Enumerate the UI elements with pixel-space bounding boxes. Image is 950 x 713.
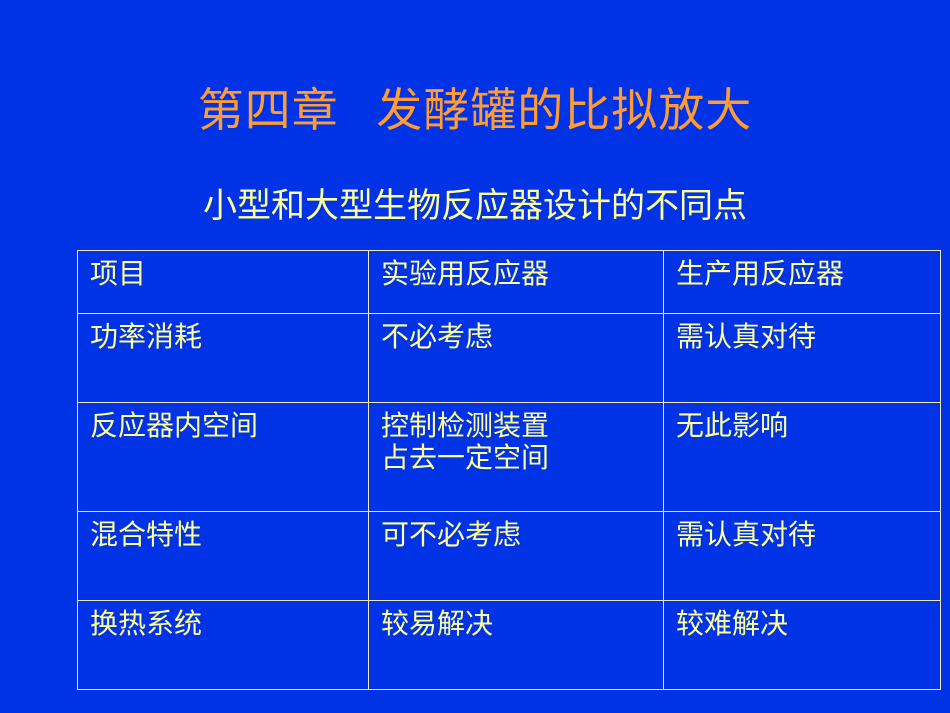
table-cell: 功率消耗 [78, 314, 369, 403]
table-row: 功率消耗 不必考虑 需认真对待 [78, 314, 941, 403]
table-cell: 反应器内空间 [78, 403, 369, 512]
table-cell: 可不必考虑 [369, 512, 664, 601]
table-header-row: 项目 实验用反应器 生产用反应器 [78, 251, 941, 314]
slide-subtitle: 小型和大型生物反应器设计的不同点 [0, 188, 950, 225]
table-cell: 不必考虑 [369, 314, 664, 403]
table-row: 反应器内空间 控制检测装置 占去一定空间 无此影响 [78, 403, 941, 512]
slide-canvas: 第四章 发酵罐的比拟放大 小型和大型生物反应器设计的不同点 项目 实验用反应器 … [0, 0, 950, 713]
table-cell: 需认真对待 [664, 314, 941, 403]
table-cell: 较难解决 [664, 601, 941, 690]
table-cell: 混合特性 [78, 512, 369, 601]
table-header-cell: 实验用反应器 [369, 251, 664, 314]
table-row: 换热系统 较易解决 较难解决 [78, 601, 941, 690]
table-cell: 控制检测装置 占去一定空间 [369, 403, 664, 512]
comparison-table: 项目 实验用反应器 生产用反应器 功率消耗 不必考虑 需认真对待 反应器内空间 … [77, 250, 941, 690]
table-row: 混合特性 可不必考虑 需认真对待 [78, 512, 941, 601]
table-cell: 无此影响 [664, 403, 941, 512]
slide-title: 第四章 发酵罐的比拟放大 [0, 86, 950, 137]
table-cell: 较易解决 [369, 601, 664, 690]
table-header-cell: 项目 [78, 251, 369, 314]
table-cell: 换热系统 [78, 601, 369, 690]
table-header-cell: 生产用反应器 [664, 251, 941, 314]
comparison-table-container: 项目 实验用反应器 生产用反应器 功率消耗 不必考虑 需认真对待 反应器内空间 … [77, 250, 871, 690]
table-cell: 需认真对待 [664, 512, 941, 601]
